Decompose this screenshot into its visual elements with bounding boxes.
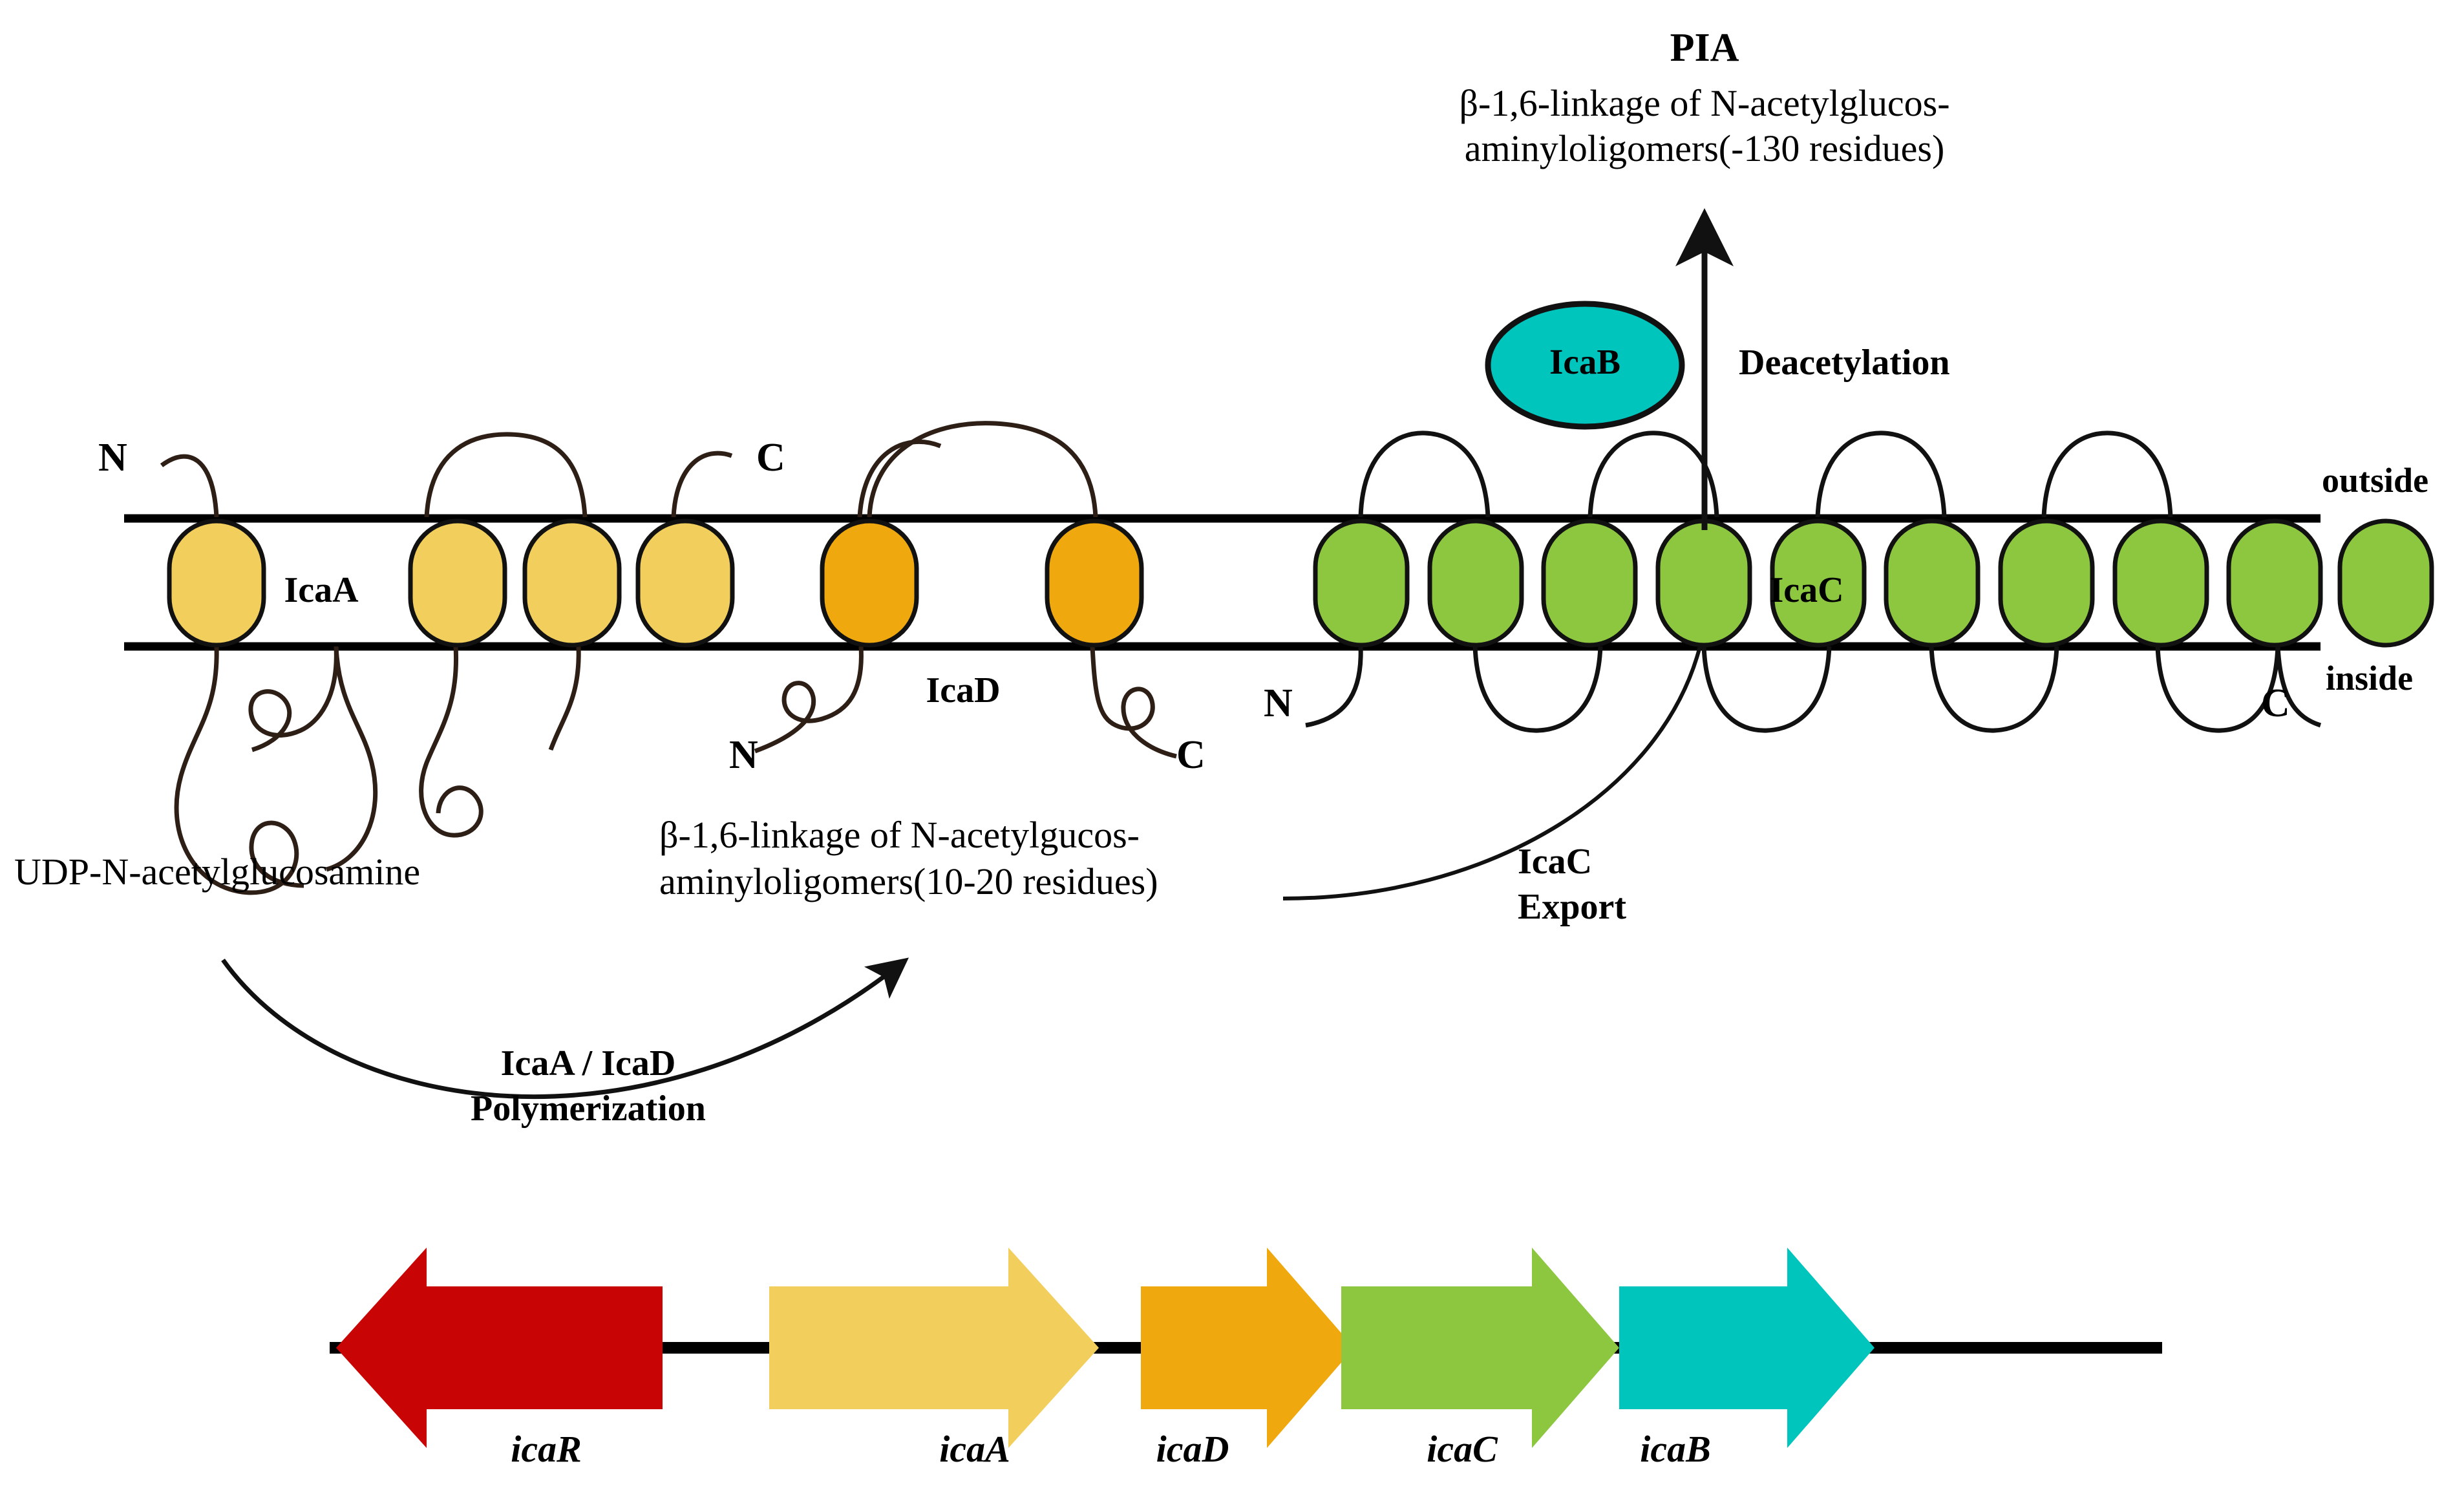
export-line1: IcaC — [1518, 840, 1592, 883]
gene-label-icaB: icaB — [1640, 1427, 1711, 1471]
icac-label: IcaC — [1769, 569, 1843, 612]
gene-label-icaA: icaA — [939, 1427, 1010, 1471]
page-title: PIA — [1670, 25, 1739, 72]
polymerization-line1: IcaA / IcaD — [501, 1042, 676, 1085]
gene-arrow-icaR[interactable] — [336, 1248, 663, 1448]
icab-label: IcaB — [1549, 341, 1620, 383]
gene-arrow-icaD[interactable] — [1141, 1248, 1354, 1448]
gene-label-icaD: icaD — [1156, 1427, 1229, 1471]
icac-outside-loops — [1361, 433, 2171, 517]
inside-label: inside — [2326, 658, 2413, 699]
gene-label-icaC: icaC — [1427, 1427, 1498, 1471]
icad-helices — [822, 521, 1142, 645]
gene-arrow-icaC[interactable] — [1341, 1248, 1619, 1448]
gene-arrow-icaB[interactable] — [1619, 1248, 1875, 1448]
icac-c-terminus: C — [2261, 680, 2290, 727]
icac-n-terminus: N — [1264, 680, 1293, 727]
icaa-helices — [169, 521, 732, 645]
export-line2: Export — [1518, 886, 1626, 928]
gene-arrow-icaA[interactable] — [769, 1248, 1099, 1448]
icac-inside-loops — [1306, 646, 2321, 730]
oligomer-line2: aminyloligomers(10-20 residues) — [659, 860, 1158, 904]
gene-label-icaR: icaR — [511, 1427, 582, 1471]
icac-helices — [1315, 521, 2432, 645]
icad-c-terminus: C — [1176, 732, 1205, 779]
icad-n-terminus: N — [729, 732, 758, 779]
icaa-c-terminus: C — [756, 434, 785, 482]
pia-description-line2: aminyloligomers(-130 residues) — [1465, 127, 1945, 171]
outside-label: outside — [2322, 460, 2428, 502]
export-curve — [1283, 646, 1700, 899]
substrate-label: UDP-N-acetylglucosamine — [14, 850, 420, 894]
icaa-n-terminus: N — [98, 434, 127, 482]
diagram-canvas: PIA β-1,6-linkage of N-acetylglucos- ami… — [0, 0, 2464, 1501]
pia-description-line1: β-1,6-linkage of N-acetylglucos- — [1459, 81, 1949, 125]
icad-label: IcaD — [926, 669, 1000, 712]
oligomer-line1: β-1,6-linkage of N-acetylgucos- — [659, 813, 1140, 857]
deacetylation-label: Deacetylation — [1739, 341, 1950, 384]
icaa-label: IcaA — [284, 569, 358, 612]
scene-svg — [0, 0, 2464, 1501]
polymerization-line2: Polymerization — [471, 1087, 706, 1130]
